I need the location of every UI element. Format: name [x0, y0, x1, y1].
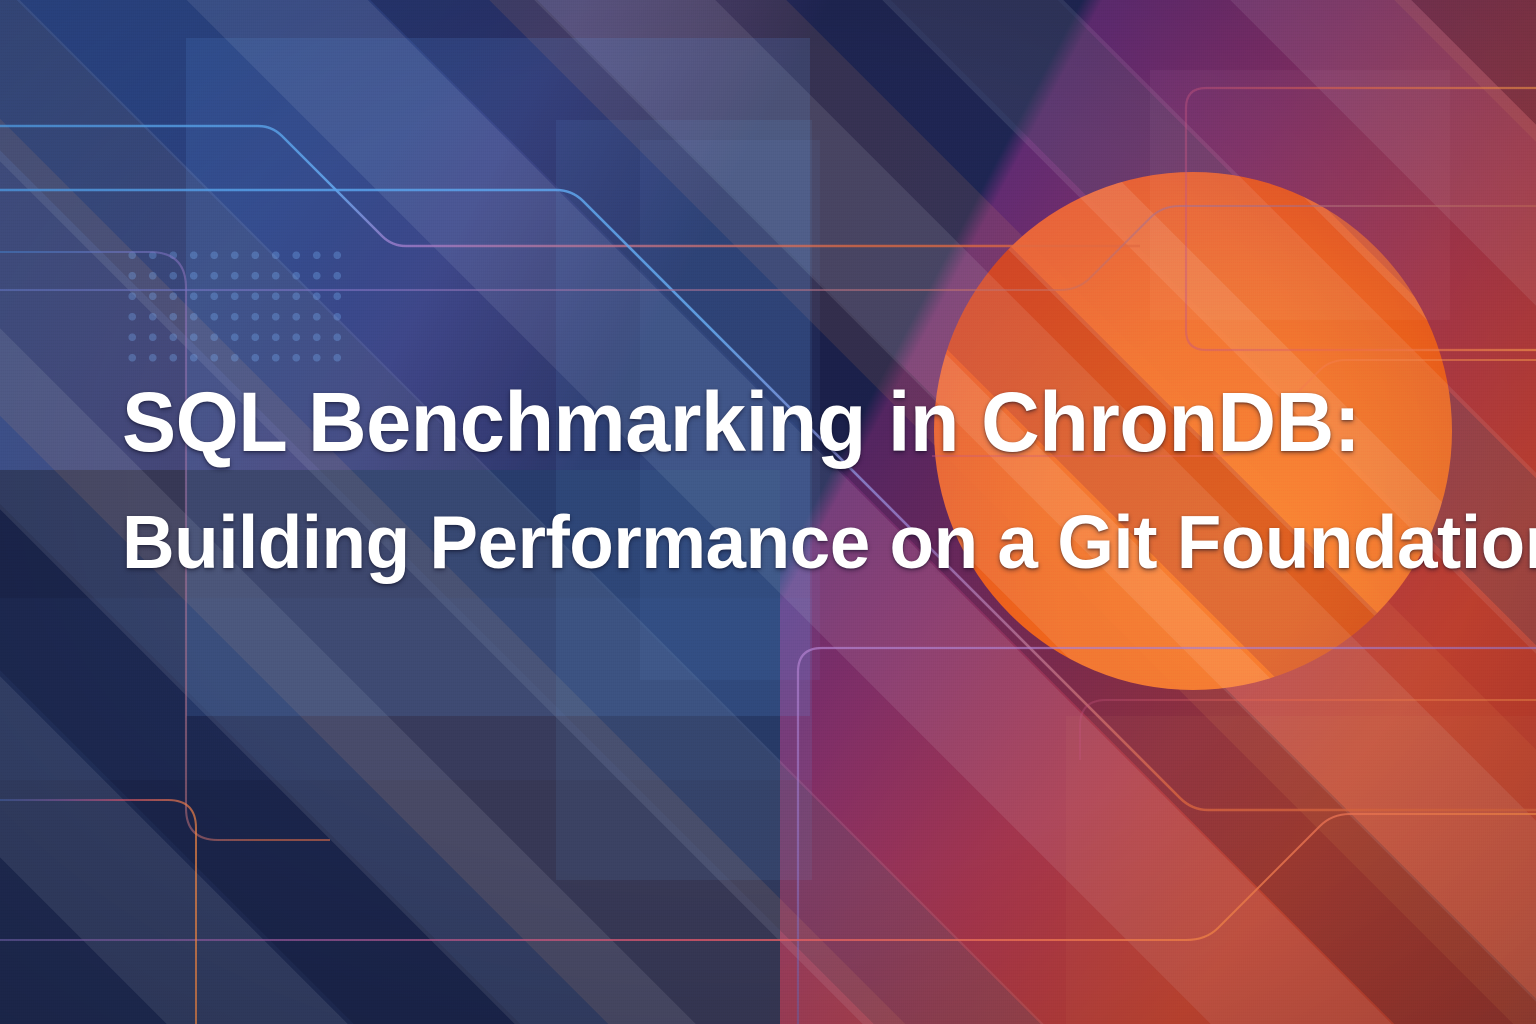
- hero-title-line-1: SQL Benchmarking in ChronDB:: [122, 376, 1378, 468]
- hero-title-line-2: Building Performance on a Git Foundation: [122, 498, 1386, 586]
- hero-banner: SQL Benchmarking in ChronDB: Building Pe…: [0, 0, 1536, 1024]
- hero-title-block: SQL Benchmarking in ChronDB: Building Pe…: [122, 376, 1422, 586]
